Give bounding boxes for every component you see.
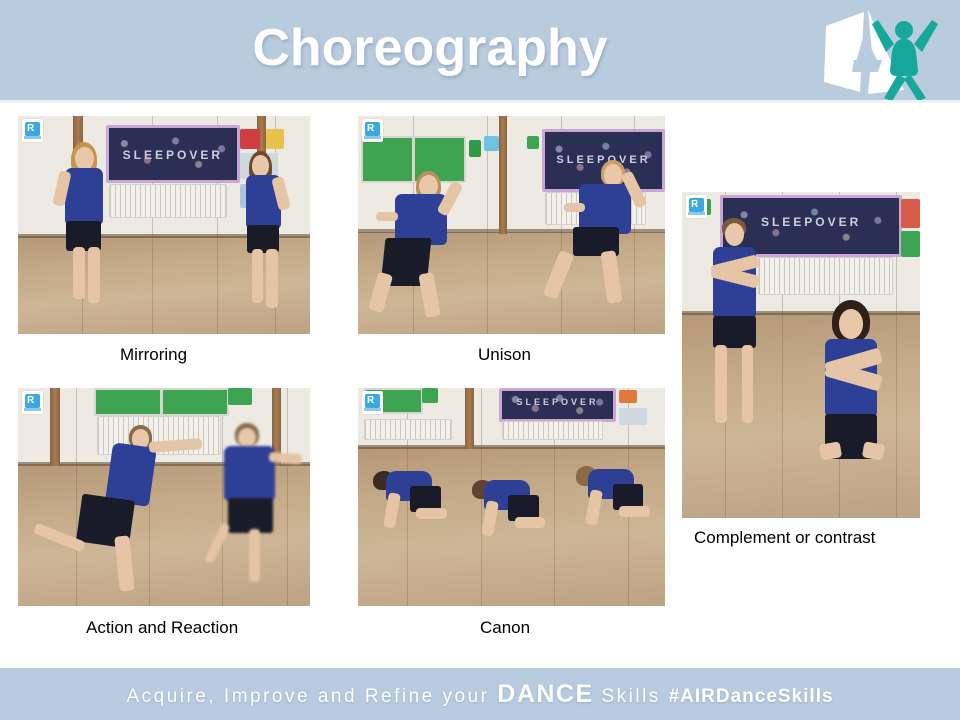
caption-complement-or-contrast: Complement or contrast <box>694 528 875 548</box>
slide-footer: Acquire, Improve and Refine your DANCE S… <box>0 668 960 720</box>
caption-action-and-reaction: Action and Reaction <box>86 618 238 638</box>
footer-emphasis: DANCE <box>497 680 593 708</box>
recorder-watermark-icon: R <box>686 195 707 218</box>
recorder-watermark-icon: R <box>22 391 43 414</box>
air-dance-logo <box>808 4 954 100</box>
photo-unison: SLEEPOVER R <box>358 116 665 334</box>
footer-middle: Skills <box>594 686 669 707</box>
wall-display-text: SLEEPOVER <box>109 148 237 162</box>
caption-canon: Canon <box>480 618 530 638</box>
slide-header: Choreography <box>0 0 960 100</box>
recorder-watermark-icon: R <box>22 119 43 142</box>
header-divider <box>0 100 960 103</box>
recorder-watermark-icon: R <box>362 119 383 142</box>
recorder-watermark-icon: R <box>362 391 383 414</box>
page-title: Choreography <box>0 18 860 78</box>
photo-canon: SLEEPOVER R <box>358 388 665 606</box>
caption-unison: Unison <box>478 345 531 365</box>
photo-action-and-reaction: R <box>18 388 310 606</box>
footer-hashtag: #AIRDanceSkills <box>669 686 834 707</box>
footer-lead: Acquire, Improve and Refine your <box>126 686 497 707</box>
footer-tagline: Acquire, Improve and Refine your DANCE S… <box>0 680 960 709</box>
wall-display-text-4: SLEEPOVER <box>723 215 899 229</box>
wall-display-text-3: SLEEPOVER <box>502 397 613 407</box>
caption-mirroring: Mirroring <box>120 345 187 365</box>
photo-complement-or-contrast: SLEEPOVER R <box>682 192 920 518</box>
photo-mirroring: SLEEPOVER R <box>18 116 310 334</box>
